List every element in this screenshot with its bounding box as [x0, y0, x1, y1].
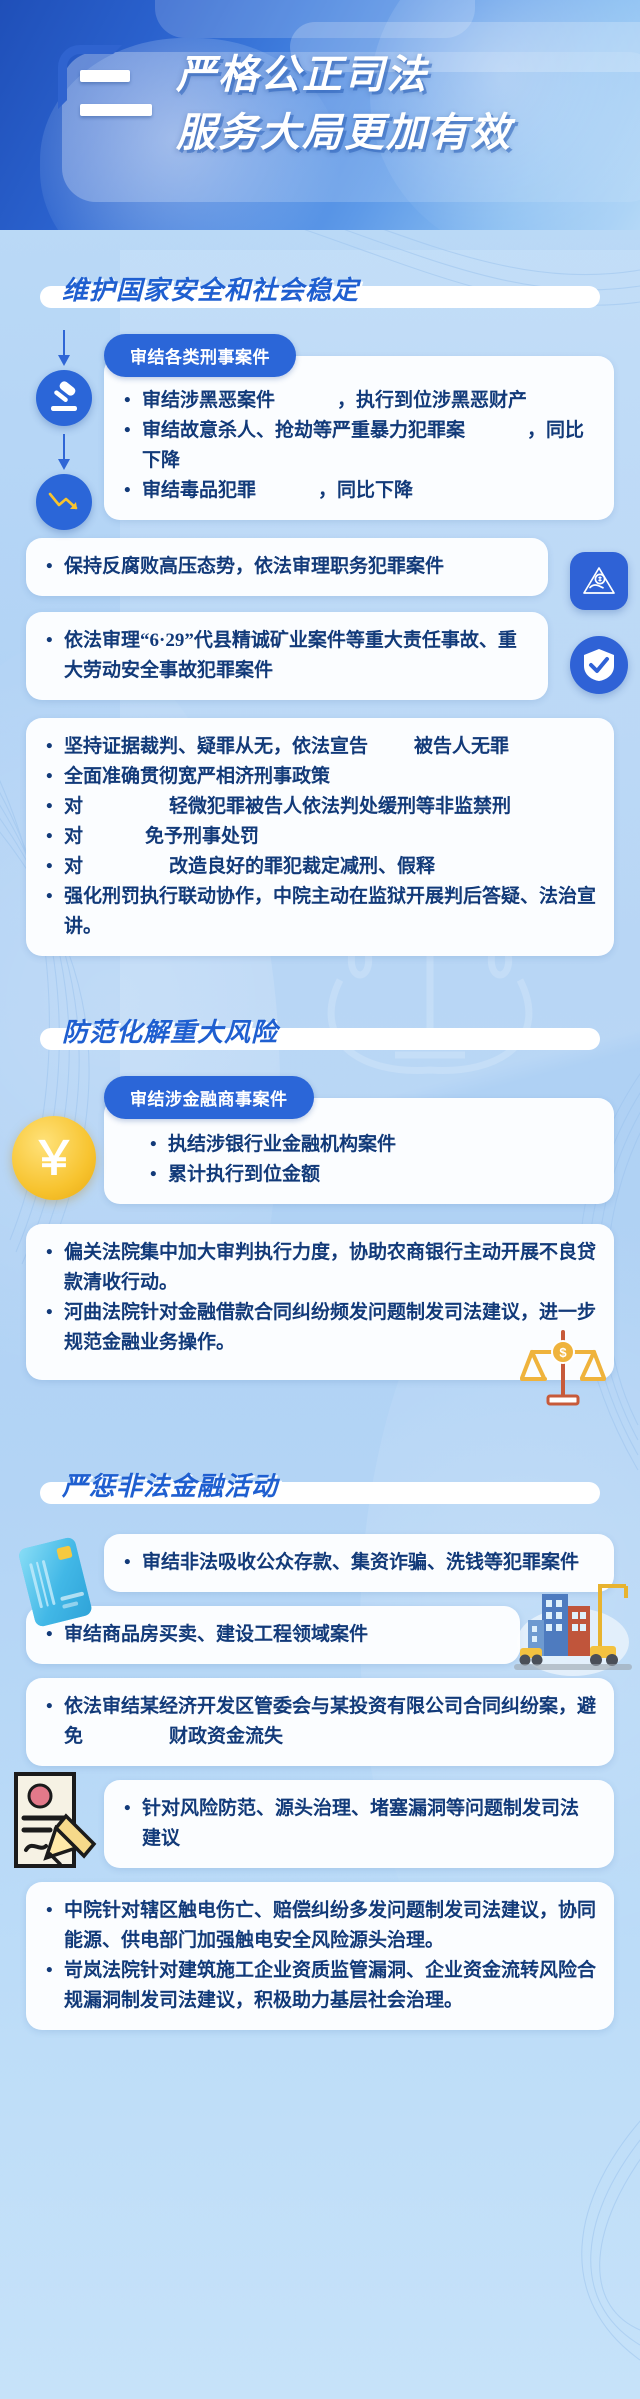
section-national-security: 维护国家安全和社会稳定 审结各类刑事案件 审结涉黑恶案件，	[0, 270, 640, 956]
section-heading-national-security: 维护国家安全和社会稳定	[40, 270, 600, 310]
section-major-risk: 防范化解重大风险 审结涉金融商事案件 ￥ 执结涉银行业金融机构案件 累计执行到位…	[0, 1012, 640, 1380]
list-item: 针对风险防范、源头治理、堵塞漏洞等问题制发司法建议	[122, 1794, 596, 1854]
section-heading-major-risk: 防范化解重大风险	[40, 1012, 600, 1052]
document-pen-icon	[10, 1770, 106, 1874]
list-item: 执结涉银行业金融机构案件	[148, 1130, 596, 1160]
list-item: 河曲法院针对金融借款合同纠纷频发问题制发司法建议，进一步规范金融业务操作。	[44, 1298, 596, 1358]
downward-trend-icon	[36, 474, 92, 530]
list-item: 岢岚法院针对建筑施工企业资质监管漏洞、企业资金流转风险合规漏洞制发司法建议，积极…	[44, 1956, 596, 2016]
card-judicial-advice: 针对风险防范、源头治理、堵塞漏洞等问题制发司法建议	[104, 1780, 614, 1868]
section-index-marker	[80, 70, 132, 116]
list-item: 依法审理“6·29”代县精诚矿业案件等重大责任事故、重大劳动安全事故犯罪案件	[44, 626, 530, 686]
card-real-estate: 审结商品房买卖、建设工程领域案件	[26, 1606, 520, 1664]
page-title: 严格公正司法 服务大局更加有效	[176, 46, 616, 162]
section-illegal-finance: 严惩非法金融活动	[0, 1466, 640, 2030]
list-item: 审结故意杀人、抢劫等严重暴力犯罪案，同比下降	[122, 416, 596, 476]
card-justice-policy: 坚持证据裁判、疑罪从无，依法宣告被告人无罪 全面准确贯彻宽严相济刑事政策 对轻微…	[26, 718, 614, 956]
list-item: 审结毒品犯罪，同比下降	[122, 476, 596, 506]
list-item: 全面准确贯彻宽严相济刑事政策	[44, 762, 596, 792]
section-heading-illegal-finance: 严惩非法金融活动	[40, 1466, 600, 1506]
page-title-line2: 服务大局更加有效	[176, 104, 616, 162]
card-criminal-cases: 审结各类刑事案件 审结涉黑恶案件，执行到位涉黑恶财产 审结故意杀人、抢劫等严重暴…	[104, 356, 614, 520]
list-item: 中院针对辖区触电伤亡、赔偿纠纷多发问题制发司法建议，协同能源、供电部门加强触电安…	[44, 1896, 596, 1956]
arrow-down-icon	[63, 330, 65, 364]
list-item: 强化刑罚执行联动协作，中院主动在监狱开展判后答疑、法治宣讲。	[44, 882, 596, 942]
card-dev-zone-contract: 依法审结某经济开发区管委会与某投资有限公司合同纠纷案，避免财政资金流失	[26, 1678, 614, 1766]
arrow-down-icon	[63, 434, 65, 468]
construction-icon	[514, 1572, 632, 1678]
card-electric-safety: 中院针对辖区触电伤亡、赔偿纠纷多发问题制发司法建议，协同能源、供电部门加强触电安…	[26, 1882, 614, 2030]
badge-financial-commercial: 审结涉金融商事案件	[104, 1076, 314, 1119]
list-item: 对轻微犯罪被告人依法判处缓刑等非监禁刑	[44, 792, 596, 822]
list-item: 审结涉黑恶案件，执行到位涉黑恶财产	[122, 386, 596, 416]
left-icon-rail	[36, 330, 92, 530]
list-item: 对改造良好的罪犯裁定减刑、假释	[44, 852, 596, 882]
list-item: 累计执行到位金额	[148, 1160, 596, 1190]
list-item: 审结商品房买卖、建设工程领域案件	[44, 1620, 502, 1650]
bank-card-icon	[12, 1528, 98, 1634]
list-item: 保持反腐败高压态势，依法审理职务犯罪案件	[44, 552, 530, 582]
page-title-line1: 严格公正司法	[176, 46, 616, 104]
list-item: 对免予刑事处罚	[44, 822, 596, 852]
svg-text:$: $	[559, 1345, 567, 1360]
card-safety-accidents: 依法审理“6·29”代县精诚矿业案件等重大责任事故、重大劳动安全事故犯罪案件	[26, 612, 548, 700]
list-item: 依法审结某经济开发区管委会与某投资有限公司合同纠纷案，避免财政资金流失	[44, 1692, 596, 1752]
shield-check-icon	[570, 636, 628, 694]
list-item: 坚持证据裁判、疑罪从无，依法宣告被告人无罪	[44, 732, 596, 762]
scales-icon: $	[520, 1322, 606, 1410]
yen-coin-icon: ￥	[12, 1116, 96, 1200]
card-financial-commercial: 审结涉金融商事案件 ￥ 执结涉银行业金融机构案件 累计执行到位金额	[104, 1098, 614, 1204]
page-header: 严格公正司法 服务大局更加有效	[0, 0, 640, 230]
card-anti-corruption: 保持反腐败高压态势，依法审理职务犯罪案件	[26, 538, 548, 596]
card-bank-npl: 偏关法院集中加大审判执行力度，协助农商银行主动开展不良贷款清收行动。 河曲法院针…	[26, 1224, 614, 1380]
badge-criminal-cases: 审结各类刑事案件	[104, 334, 296, 377]
money-warning-icon	[570, 552, 628, 610]
gavel-icon	[36, 370, 92, 426]
list-item: 偏关法院集中加大审判执行力度，协助农商银行主动开展不良贷款清收行动。	[44, 1238, 596, 1298]
